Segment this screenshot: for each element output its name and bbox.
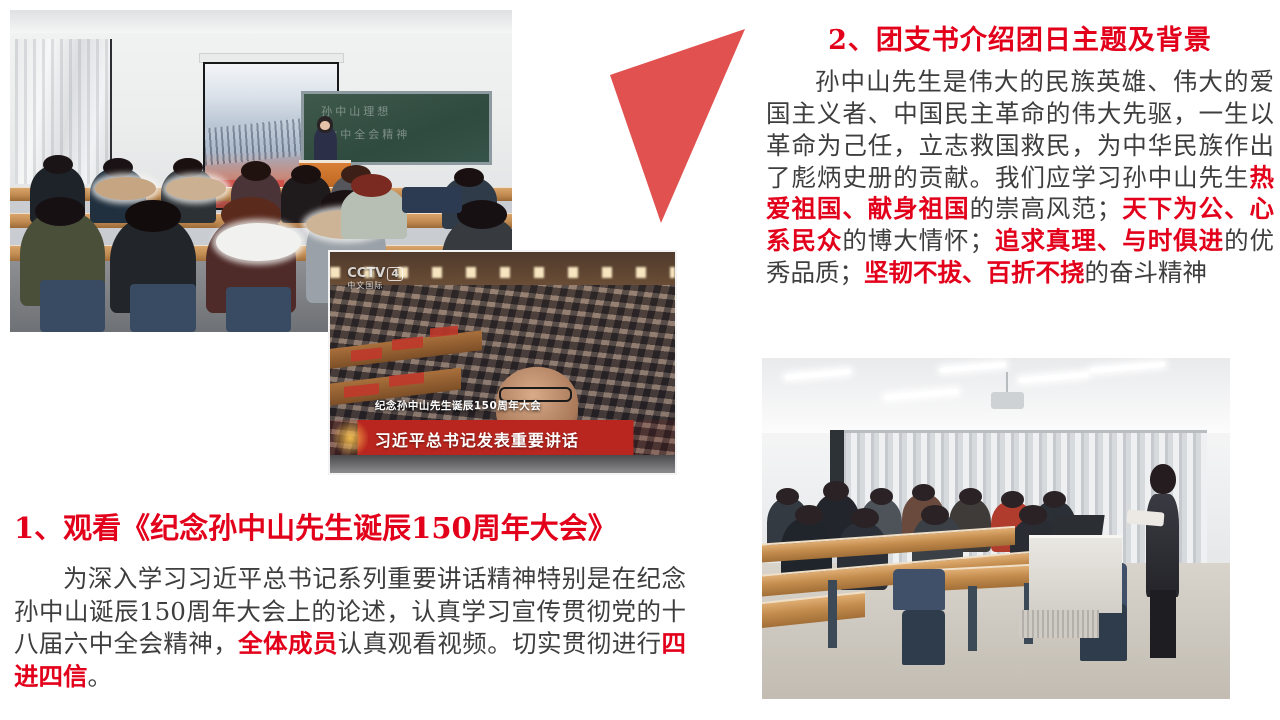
section-1-heading: 1、观看《纪念孙中山先生诞辰150周年大会》 [14, 505, 686, 547]
desk-leg [968, 586, 977, 651]
paragraph-run: 的崇高风范； [970, 194, 1122, 223]
fur-hood [95, 177, 155, 200]
blackboard-text-line1: 孙中山理想 [321, 103, 391, 119]
chair-back [40, 280, 105, 332]
student-head [351, 174, 391, 197]
lecture-ceiling [10, 10, 512, 33]
empty-chair [893, 569, 944, 610]
presenter-head [1150, 464, 1176, 495]
fur-hood-white [216, 223, 301, 262]
radiator [1019, 610, 1099, 637]
student-head [823, 481, 849, 501]
student-head [921, 505, 949, 525]
highlighted-phrase: 全体成员 [238, 629, 338, 658]
ticker-emblem-glow [333, 418, 368, 458]
slide-canvas: 孙中山理想 六中全会精神 [0, 0, 1280, 720]
blackboard-text-line2: 六中全会精神 [326, 126, 410, 142]
highlighted-phrase: 追求真理、与时俱进 [994, 226, 1224, 255]
section-1-text-block: 1、观看《纪念孙中山先生诞辰150周年大会》 为深入学习习近平总书记系列重要讲话… [14, 505, 686, 693]
presenter-face [320, 121, 330, 131]
paragraph-run: 认真观看视频。切实贯彻进行 [338, 629, 662, 658]
presenter-legs [1150, 590, 1176, 658]
student-head [959, 488, 982, 505]
backpack [402, 187, 462, 213]
student-head [35, 197, 85, 226]
student-head [1001, 491, 1024, 508]
broadcast-bottom-strip [330, 455, 675, 473]
cctv-logo-text: CCTV [347, 266, 385, 281]
paragraph-run: 孙中山先生是伟大的民族英雄、伟大的爱国主义者、中国民主革命的伟大先驱，一生以革命… [766, 67, 1274, 192]
desk-leg [828, 580, 837, 648]
student-head [870, 488, 893, 505]
cctv-channel-subtitle: 中文国际 [347, 282, 403, 290]
cctv-channel-logo: CCTV4 中文国际 [347, 267, 403, 290]
student-head [795, 505, 823, 525]
broadcast-ticker-headline: 习近平总书记发表重要讲话 [375, 427, 579, 451]
student-head [1043, 491, 1066, 508]
red-triangle-decoration [600, 20, 760, 235]
photo-cctv-broadcast: CCTV4 中文国际 纪念孙中山先生诞辰150周年大会 习近平总书记发表重要讲话 [328, 250, 677, 475]
cctv-scene: CCTV4 中文国际 纪念孙中山先生诞辰150周年大会 习近平总书记发表重要讲话 [330, 252, 675, 473]
fur-hood [166, 177, 226, 200]
paragraph-run: 的博大情怀； [842, 226, 994, 255]
broadcast-ticker-subtitle: 纪念孙中山先生诞辰150周年大会 [375, 398, 541, 413]
paragraph-run: 的奋斗精神 [1085, 258, 1208, 287]
student-head [43, 155, 73, 174]
presenter-body [1146, 494, 1179, 596]
empty-chair [902, 610, 944, 665]
section-2-paragraph: 孙中山先生是伟大的民族英雄、伟大的爱国主义者、中国民主革命的伟大先驱，一生以革命… [766, 66, 1274, 289]
classroom-scene [762, 358, 1230, 699]
student-head [241, 161, 271, 180]
chair-back [226, 287, 291, 332]
section-2-text-block: 2、团支书介绍团日主题及背景 孙中山先生是伟大的民族英雄、伟大的爱国主义者、中国… [766, 18, 1274, 289]
section-1-paragraph: 为深入学习习近平总书记系列重要讲话精神特别是在纪念孙中山诞辰150周年大会上的论… [14, 563, 686, 693]
student-head [291, 165, 321, 184]
lectern-console [1029, 535, 1123, 613]
photo-classroom-seminar [762, 358, 1230, 699]
chair-back [130, 284, 195, 332]
paragraph-run: 。 [88, 662, 113, 691]
student-head [125, 200, 180, 232]
student-head [457, 200, 507, 229]
highlighted-phrase: 坚韧不拔、百折不挠 [864, 258, 1085, 287]
ceiling-projector [991, 392, 1024, 409]
student-head [776, 488, 799, 505]
cctv-channel-number: 4 [387, 267, 403, 281]
section-2-heading: 2、团支书介绍团日主题及背景 [766, 18, 1274, 57]
